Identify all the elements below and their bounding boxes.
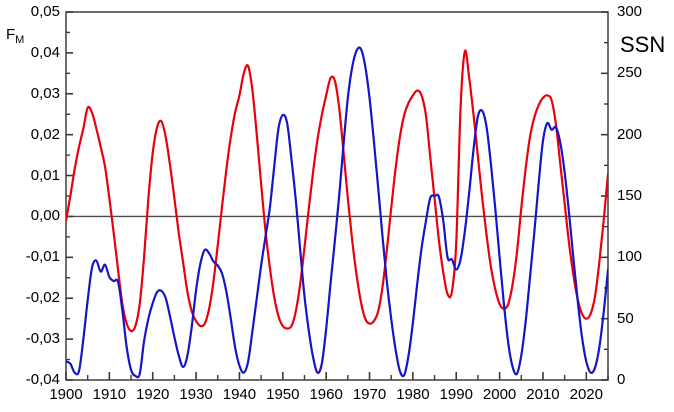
x-tick-label: 2020 xyxy=(556,386,616,403)
y-tick-label: -0,03 xyxy=(0,330,60,347)
y2-tick-label: 300 xyxy=(617,3,642,20)
y2-tick-label: 150 xyxy=(617,187,642,204)
plot-canvas xyxy=(0,0,674,412)
y-tick-label: -0,01 xyxy=(0,248,60,265)
y2-tick-label: 50 xyxy=(617,310,634,327)
y-tick-label: 0,05 xyxy=(0,3,60,20)
y2-tick-label: 0 xyxy=(617,371,625,388)
y-tick-label: 0,01 xyxy=(0,167,60,184)
series-line-ssn xyxy=(66,51,608,331)
y-tick-label: 0,04 xyxy=(0,44,60,61)
y-tick-label: -0,02 xyxy=(0,289,60,306)
y2-tick-label: 100 xyxy=(617,248,642,265)
y-tick-label: 0,02 xyxy=(0,126,60,143)
y2-tick-label: 200 xyxy=(617,126,642,143)
chart-figure: FM SSN -0,04-0,03-0,02-0,010,000,010,020… xyxy=(0,0,674,412)
y2-tick-label: 250 xyxy=(617,64,642,81)
y-tick-label: 0,03 xyxy=(0,85,60,102)
y-tick-label: 0,00 xyxy=(0,207,60,224)
